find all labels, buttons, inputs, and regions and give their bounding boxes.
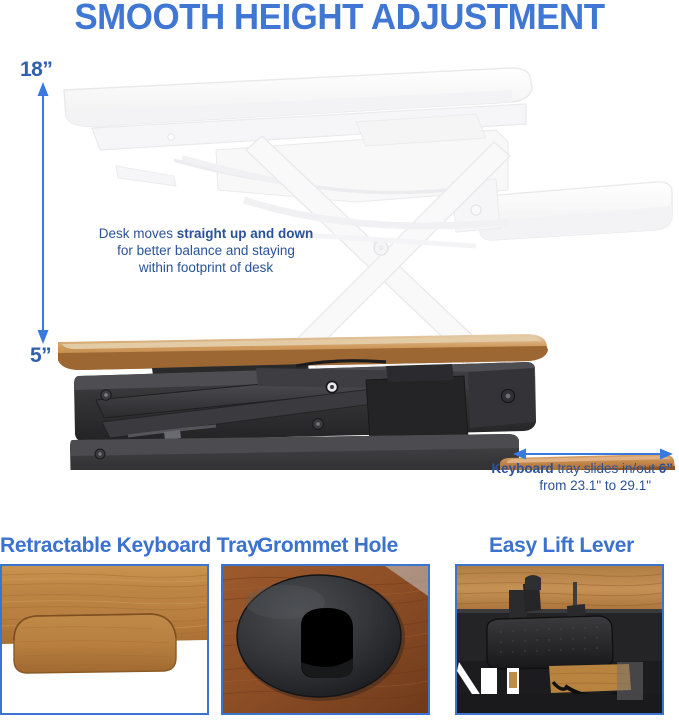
keyboard-travel-distance: 6” xyxy=(659,461,673,476)
note-line3: within footprint of desk xyxy=(139,260,273,275)
feature-title: Retractable Keyboard Tray xyxy=(0,532,213,564)
page-title: SMOOTH HEIGHT ADJUSTMENT xyxy=(10,0,669,38)
note-line2: for better balance and staying xyxy=(117,243,295,258)
feature-easy-lift-lever: Easy Lift Lever xyxy=(455,532,668,715)
min-height-label: 5” xyxy=(30,344,51,368)
keyboard-callout-text: Keyboard tray slides in/out 6” from 23.1… xyxy=(380,460,679,494)
keyboard-strong-label: Keyboard xyxy=(491,461,553,476)
black-grommet-in-wood-desktop-image xyxy=(223,566,428,713)
feature-retractable-keyboard-tray: Retractable Keyboard Tray xyxy=(0,532,213,715)
feature-title: Grommet Hole xyxy=(221,532,434,564)
wood-desk-with-keyboard-tray-image xyxy=(2,566,207,713)
feature-title: Easy Lift Lever xyxy=(455,532,668,564)
feature-image-frame[interactable] xyxy=(221,564,430,715)
horizontal-double-arrow-icon xyxy=(513,447,673,461)
keyboard-range-text: from 23.1" to 29.1" xyxy=(380,477,673,494)
feature-panels: Retractable Keyboard Tray xyxy=(0,532,679,722)
feature-image-frame[interactable] xyxy=(0,564,209,715)
keyboard-mid-text: tray slides in/out xyxy=(554,461,659,476)
max-height-label: 18” xyxy=(20,58,52,82)
note-line1-prefix: Desk moves xyxy=(99,226,177,241)
note-line1-strong: straight up and down xyxy=(177,226,314,241)
vertical-double-arrow-icon xyxy=(35,82,51,344)
feature-image-frame[interactable] xyxy=(455,564,664,715)
raised-desk-ghost xyxy=(64,68,672,372)
desk-movement-note: Desk moves straight up and down for bett… xyxy=(70,225,342,276)
black-lift-lever-under-desk-image xyxy=(457,566,662,713)
feature-grommet-hole: Grommet Hole xyxy=(221,532,434,715)
